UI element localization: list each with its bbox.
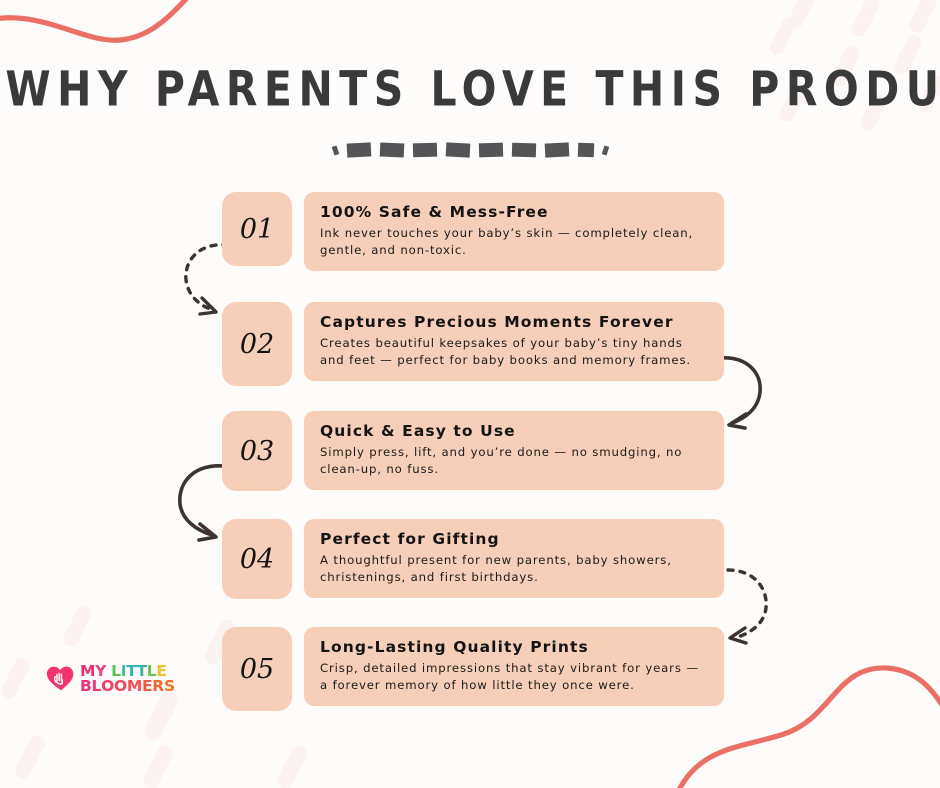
item-title: Long-Lasting Quality Prints [320, 638, 708, 657]
list-item[interactable]: 05 Long-Lasting Quality Prints Crisp, de… [222, 627, 724, 711]
bg-pill [12, 733, 47, 781]
item-number-badge: 04 [222, 519, 292, 599]
bg-pill [907, 0, 940, 35]
item-card: Perfect for Gifting A thoughtful present… [304, 519, 724, 598]
bg-pill [0, 655, 32, 701]
item-number-badge: 01 [222, 192, 292, 266]
dashed-divider [0, 140, 940, 160]
bg-pill [849, 0, 881, 39]
bg-pill [140, 743, 175, 788]
header: WHY PARENTS LOVE THIS PRODUCT [0, 58, 940, 160]
wavy-line-top-left-icon [0, 0, 310, 62]
item-title: Perfect for Gifting [320, 530, 708, 549]
item-title: Quick & Easy to Use [320, 422, 708, 441]
divider-tick [577, 143, 593, 158]
item-description: Creates beautiful keepsakes of your baby… [320, 335, 708, 369]
item-description: Crisp, detailed impressions that stay vi… [320, 660, 708, 694]
item-card: 100% Safe & Mess-Free Ink never touches … [304, 192, 724, 271]
list-item[interactable]: 01 100% Safe & Mess-Free Ink never touch… [222, 192, 724, 271]
divider-tick [478, 143, 502, 158]
divider-tick [445, 142, 470, 157]
list-item[interactable]: 03 Quick & Easy to Use Simply press, lif… [222, 411, 724, 491]
item-description: A thoughtful present for new parents, ba… [320, 552, 708, 586]
bg-pill [786, 0, 819, 31]
list-item[interactable]: 04 Perfect for Gifting A thoughtful pres… [222, 519, 724, 599]
logo-line-2: BLOOMERS [80, 679, 175, 694]
bg-pill [274, 743, 309, 788]
divider-cap [601, 145, 609, 155]
bg-pill [141, 689, 181, 744]
divider-tick [511, 143, 535, 158]
infographic-canvas: WHY PARENTS LOVE THIS PRODUCT [0, 0, 940, 788]
item-number-badge: 05 [222, 627, 292, 711]
divider-cap [331, 145, 339, 155]
divider-tick [412, 143, 436, 158]
item-card: Captures Precious Moments Forever Create… [304, 302, 724, 381]
brand-logo[interactable]: MY LITTLE BLOOMERS [46, 664, 175, 693]
item-card: Long-Lasting Quality Prints Crisp, detai… [304, 627, 724, 706]
connector-2-to-3-solid-arrow [712, 348, 794, 434]
logo-wordmark: MY LITTLE BLOOMERS [80, 664, 175, 693]
item-title: 100% Safe & Mess-Free [320, 203, 708, 222]
item-description: Simply press, lift, and you’re done — no… [320, 444, 708, 478]
connector-4-to-5-dashed-arrow [712, 558, 794, 650]
item-number-badge: 02 [222, 302, 292, 386]
list-item[interactable]: 02 Captures Precious Moments Forever Cre… [222, 302, 724, 386]
item-number-badge: 03 [222, 411, 292, 491]
item-title: Captures Precious Moments Forever [320, 313, 708, 332]
bg-pill [61, 603, 94, 649]
divider-tick [379, 142, 404, 157]
title-row: WHY PARENTS LOVE THIS PRODUCT [0, 58, 940, 120]
heart-hand-icon [46, 665, 76, 692]
page-title: WHY PARENTS LOVE THIS PRODUCT [5, 61, 940, 118]
item-card: Quick & Easy to Use Simply press, lift, … [304, 411, 724, 490]
item-description: Ink never touches your baby’s skin — com… [320, 225, 708, 259]
divider-tick [346, 142, 371, 157]
bg-pill [768, 15, 799, 57]
divider-tick [544, 142, 569, 157]
